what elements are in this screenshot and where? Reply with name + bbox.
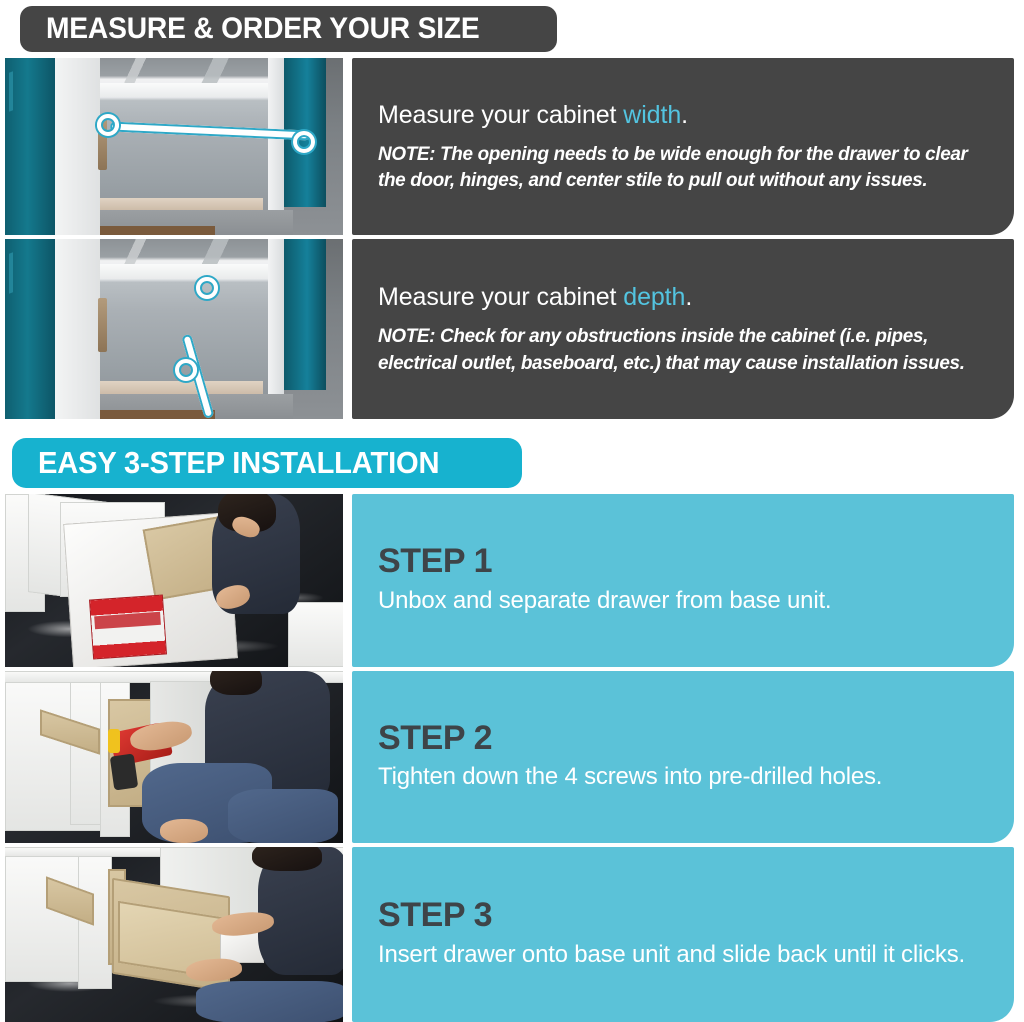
panel-step-2: STEP 2 Tighten down the 4 screws into pr… bbox=[352, 671, 1014, 843]
panel-step-1: STEP 1 Unbox and separate drawer from ba… bbox=[352, 494, 1014, 667]
person-foot bbox=[160, 819, 208, 843]
banner-install-label: EASY 3-STEP INSTALLATION bbox=[38, 445, 439, 481]
step-1-body: Unbox and separate drawer from base unit… bbox=[378, 586, 992, 617]
photo-edge-left bbox=[0, 847, 5, 1022]
person-head bbox=[210, 671, 262, 695]
photo-edge-right bbox=[343, 494, 348, 667]
infographic-page: MEASURE & ORDER YOUR SIZE Measure your bbox=[0, 0, 1024, 1022]
measure-depth-heading-suffix: . bbox=[685, 283, 692, 311]
counter-edge bbox=[100, 83, 268, 97]
measure-depth-heading-prefix: Measure your cabinet bbox=[378, 283, 623, 311]
label-text-block bbox=[94, 612, 161, 629]
photo-edge-right bbox=[343, 847, 348, 1022]
measure-depth-heading: Measure your cabinet depth. bbox=[378, 282, 992, 313]
measure-width-heading-prefix: Measure your cabinet bbox=[378, 101, 623, 129]
width-measure-dot-right bbox=[293, 131, 315, 153]
cabinet-frame-left bbox=[55, 239, 100, 419]
wood-floor-patch bbox=[95, 410, 215, 419]
cabinet-door-left bbox=[5, 239, 55, 419]
step-3-body: Insert drawer onto base unit and slide b… bbox=[378, 940, 992, 971]
row-measure-depth: Measure your cabinet depth. NOTE: Check … bbox=[0, 239, 1014, 419]
person-head bbox=[252, 847, 322, 871]
depth-measure-dot-bottom bbox=[175, 359, 197, 381]
cabinet-depth-photo bbox=[0, 239, 348, 419]
measure-depth-highlight: depth bbox=[623, 283, 685, 311]
step-2-title: STEP 2 bbox=[378, 721, 992, 757]
measure-width-heading: Measure your cabinet width. bbox=[378, 100, 992, 131]
photo-edge-right bbox=[343, 58, 348, 235]
banner-measure-label: MEASURE & ORDER YOUR SIZE bbox=[46, 12, 480, 46]
person-jeans-leg bbox=[228, 789, 338, 843]
row-step-2: STEP 2 Tighten down the 4 screws into pr… bbox=[0, 671, 1014, 843]
cabinet-frame-right bbox=[268, 239, 284, 394]
drill-handle bbox=[110, 753, 138, 790]
kickplate bbox=[100, 381, 263, 394]
step-1-title: STEP 1 bbox=[378, 544, 992, 580]
product-red-label bbox=[90, 596, 166, 659]
row-step-3: STEP 3 Insert drawer onto base unit and … bbox=[0, 847, 1014, 1022]
step-2-body: Tighten down the 4 screws into pre-drill… bbox=[378, 762, 992, 793]
photo-edge-right bbox=[343, 239, 348, 419]
cabinet-hinge bbox=[98, 298, 107, 352]
measure-width-note: NOTE: The opening needs to be wide enoug… bbox=[378, 141, 974, 194]
step-2-photo bbox=[0, 671, 348, 843]
person-jeans bbox=[196, 981, 346, 1022]
step-1-photo bbox=[0, 494, 348, 667]
row-measure-width: Measure your cabinet width. NOTE: The op… bbox=[0, 58, 1014, 235]
row-step-1: STEP 1 Unbox and separate drawer from ba… bbox=[0, 494, 1014, 667]
counter-edge bbox=[100, 264, 268, 278]
depth-measure-dot-top bbox=[196, 277, 218, 299]
cabinet-right bbox=[288, 602, 348, 667]
photo-edge-left bbox=[0, 671, 5, 843]
kickplate bbox=[100, 198, 263, 210]
measure-width-heading-suffix: . bbox=[681, 101, 688, 129]
measure-width-highlight: width bbox=[623, 101, 681, 129]
cabinet-door-left bbox=[5, 58, 55, 235]
wood-floor-patch bbox=[95, 226, 215, 235]
banner-measure-and-order: MEASURE & ORDER YOUR SIZE bbox=[20, 6, 557, 52]
photo-edge-left bbox=[0, 58, 5, 235]
step-3-photo bbox=[0, 847, 348, 1022]
drill-accent bbox=[108, 729, 120, 753]
cabinet-door-right bbox=[284, 239, 326, 390]
panel-measure-width: Measure your cabinet width. NOTE: The op… bbox=[352, 58, 1014, 235]
photo-edge-left bbox=[0, 494, 5, 667]
photo-edge-left bbox=[0, 239, 5, 419]
panel-measure-depth: Measure your cabinet depth. NOTE: Check … bbox=[352, 239, 1014, 419]
width-measure-dot-left bbox=[97, 114, 119, 136]
cabinet-width-photo bbox=[0, 58, 348, 235]
panel-step-3: STEP 3 Insert drawer onto base unit and … bbox=[352, 847, 1014, 1022]
photo-edge-right bbox=[343, 671, 348, 843]
step-3-title: STEP 3 bbox=[378, 898, 992, 934]
cabinet-frame-left bbox=[55, 58, 100, 235]
measure-depth-note: NOTE: Check for any obstructions inside … bbox=[378, 323, 974, 376]
banner-easy-3-step-installation: EASY 3-STEP INSTALLATION bbox=[12, 438, 522, 488]
